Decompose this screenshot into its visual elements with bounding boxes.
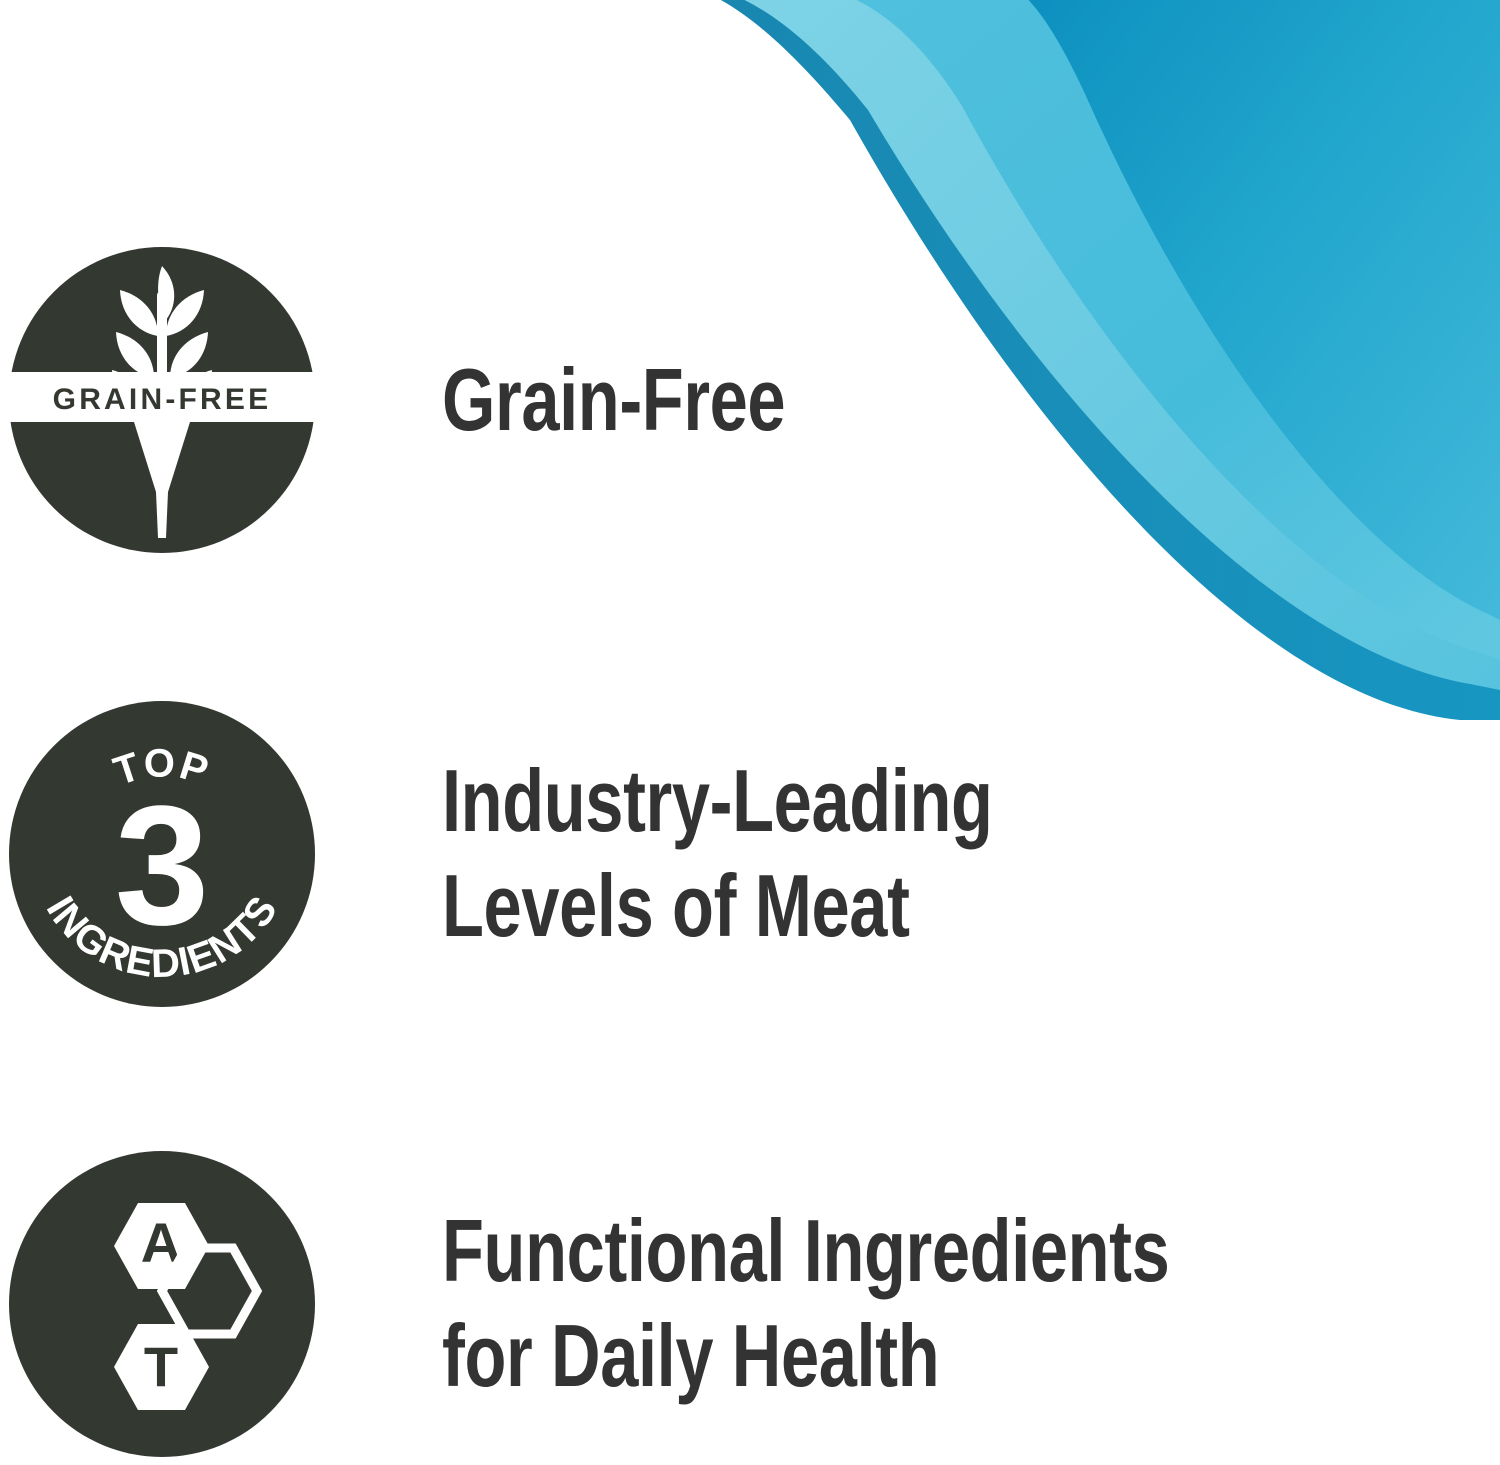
top-3-ingredients-badge-icon: TOP 3 INGREDIENTS (8, 700, 316, 1008)
feature-line: Levels of Meat (442, 854, 993, 959)
feature-row-functional-ingredients: A T Functional Ingredients for Daily Hea… (0, 1150, 1400, 1458)
badge-number: 3 (115, 771, 210, 961)
feature-line: Grain-Free (442, 348, 785, 453)
badge-circle (9, 1151, 315, 1457)
feature-line: Industry-Leading (442, 749, 993, 854)
feature-line: for Daily Health (442, 1304, 1169, 1409)
feature-line: Functional Ingredients (442, 1199, 1169, 1304)
feature-row-top-3-ingredients: TOP 3 INGREDIENTS Industry-Leading Level… (0, 700, 1400, 1008)
feature-label-functional-ingredients: Functional Ingredients for Daily Health (442, 1199, 1169, 1408)
functional-ingredients-hexagon-badge-icon: A T (8, 1150, 316, 1458)
hexagon-label-t: T (144, 1335, 178, 1398)
feature-row-grain-free: GRAIN-FREE Grain-Free (0, 246, 1400, 554)
grain-free-badge-icon: GRAIN-FREE (8, 246, 316, 554)
feature-label-industry-leading: Industry-Leading Levels of Meat (442, 749, 993, 958)
grain-free-label: GRAIN-FREE (53, 383, 272, 416)
product-feature-panel: GRAIN-FREE Grain-Free TOP 3 INGREDIENTS (0, 0, 1500, 1465)
feature-label-grain-free: Grain-Free (442, 348, 785, 453)
